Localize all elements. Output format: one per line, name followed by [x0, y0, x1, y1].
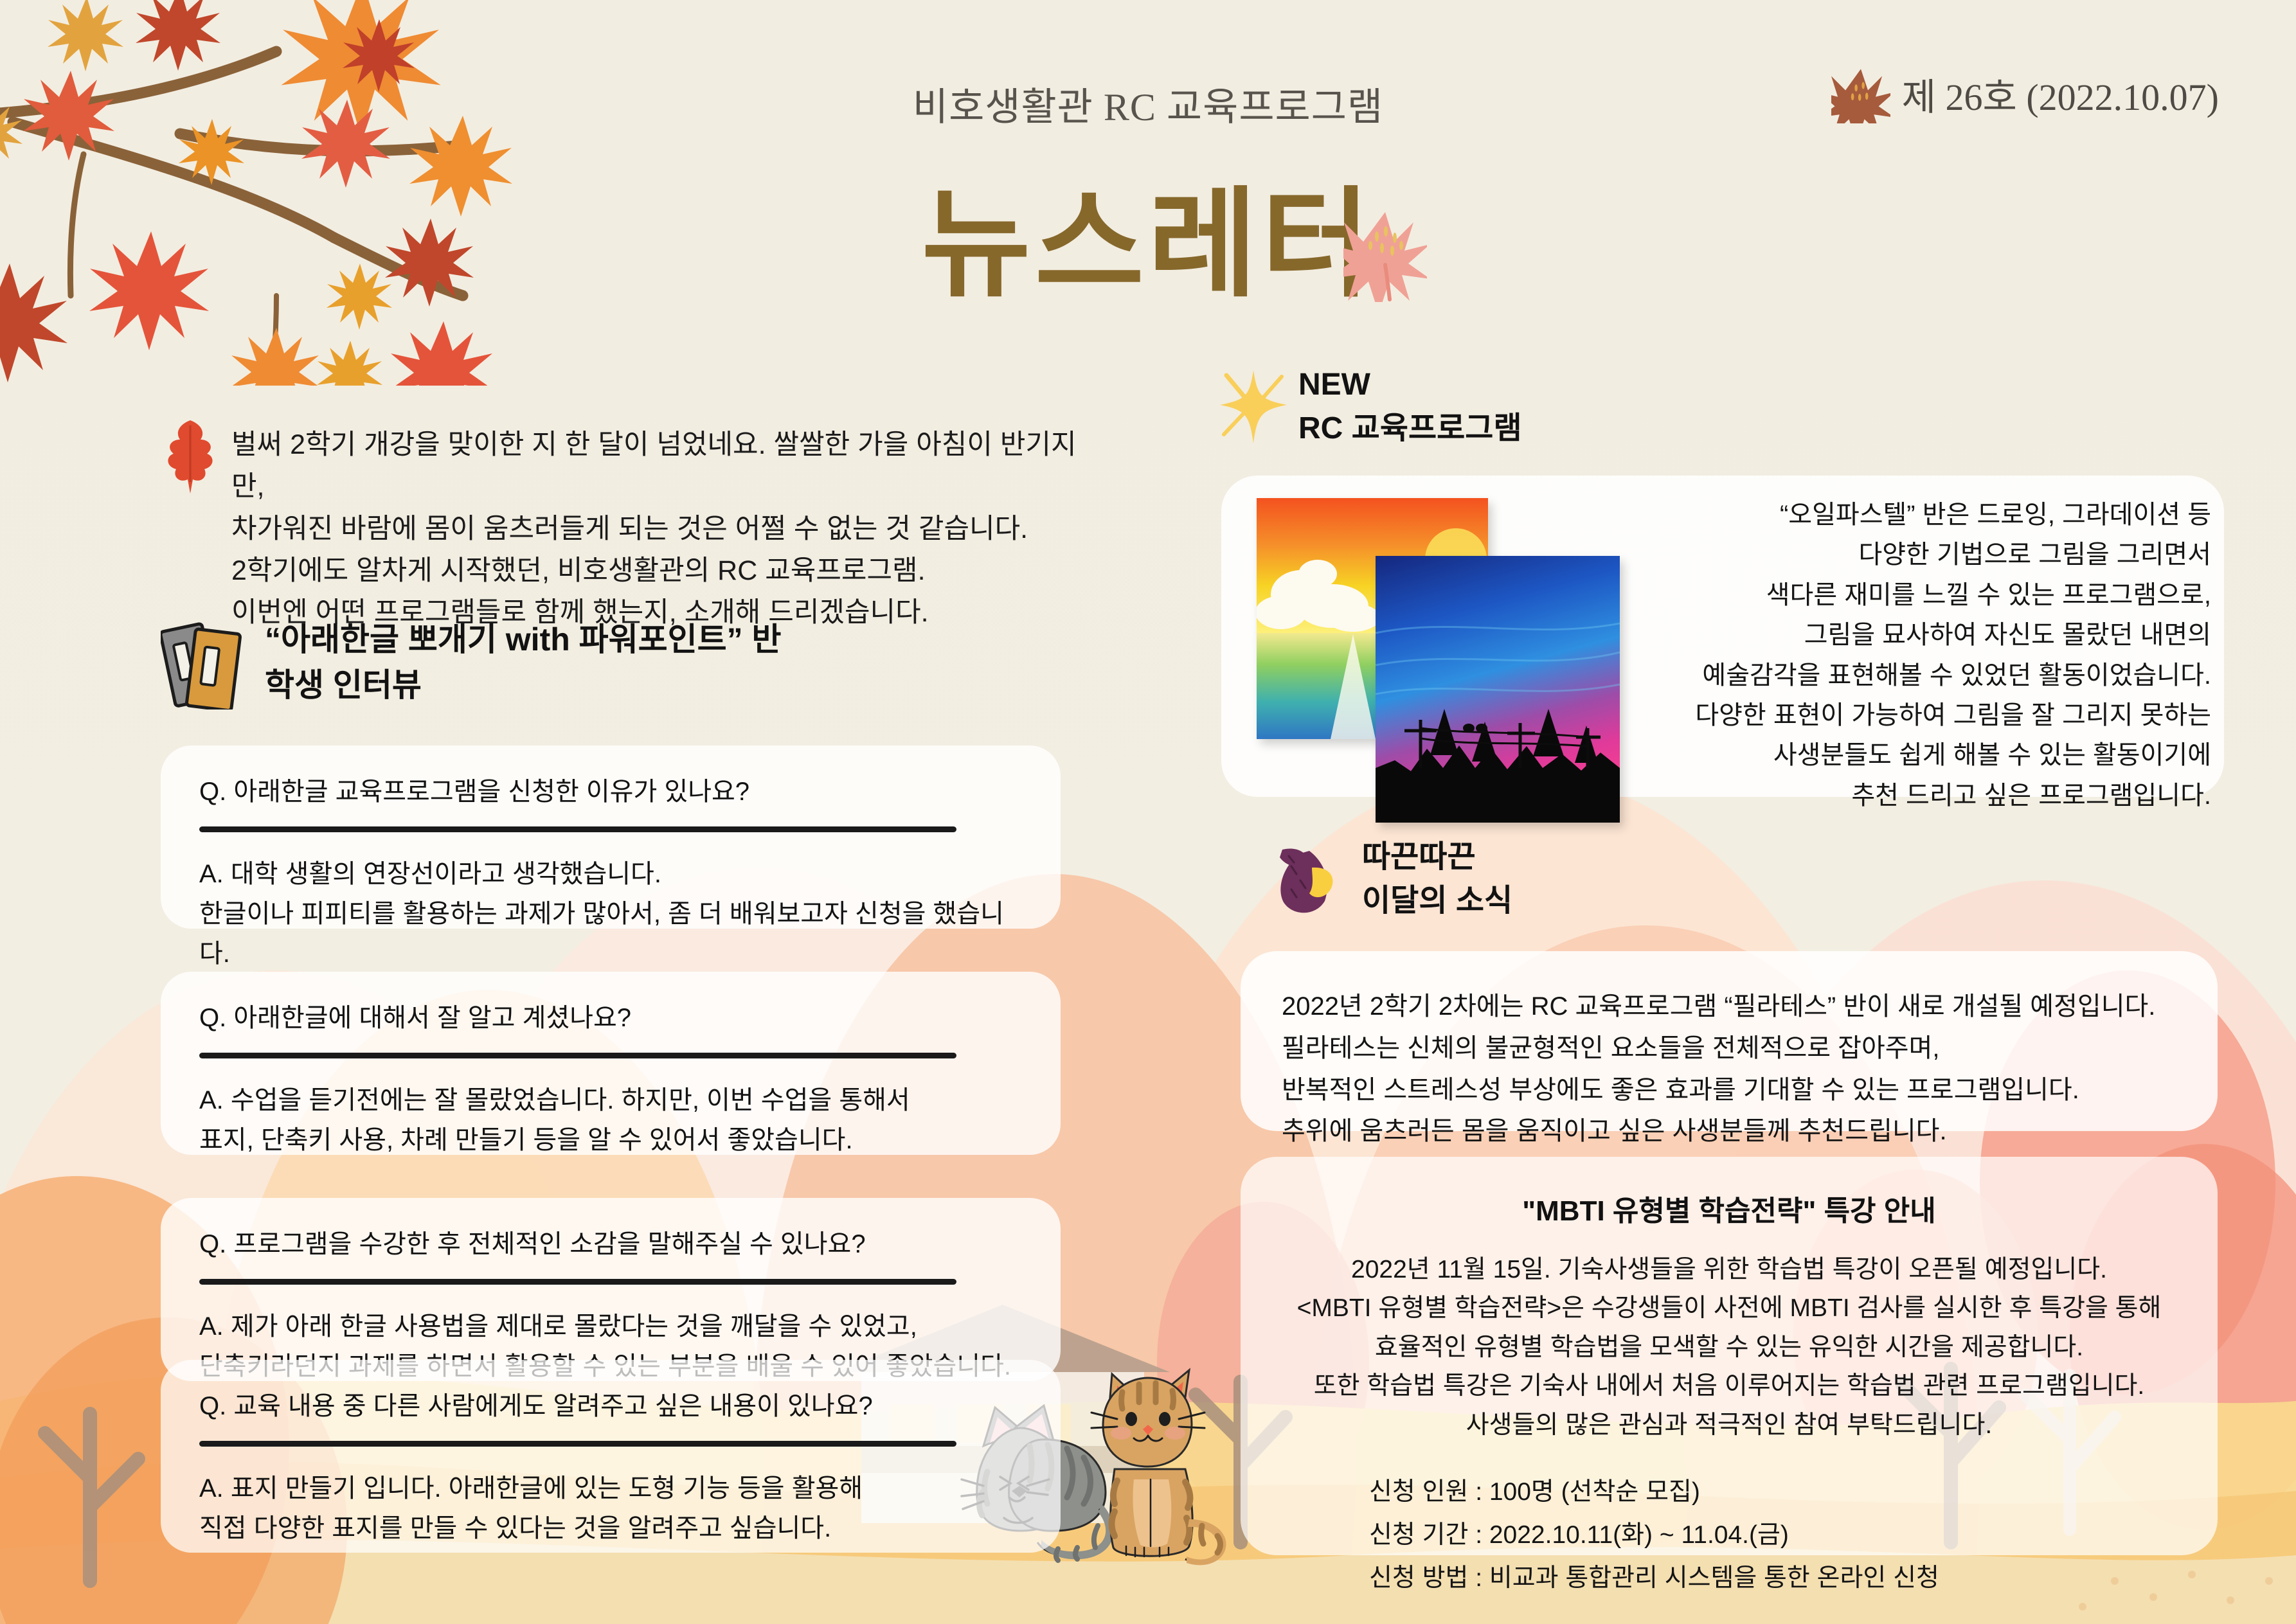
qa-answer: A. 대학 생활의 연장선이라고 생각했습니다. 한글이나 피피티를 활용하는 … — [199, 854, 1022, 974]
intro-paragraph: 벌써 2학기 개강을 맞이한 지 한 달이 넘었네요. 쌀쌀한 가을 아침이 반… — [231, 424, 1106, 634]
new-program-heading-text: NEW RC 교육프로그램 — [1298, 363, 1522, 451]
newsletter-page: 비호생활관 RC 교육프로그램 뉴스레터 제 26호 — [0, 0, 2296, 1624]
qa-divider — [199, 1279, 956, 1285]
books-icon — [161, 613, 251, 709]
monthly-news-heading-text: 따끈따끈 이달의 소식 — [1362, 835, 1512, 923]
mbti-body: 2022년 11월 15일. 기숙사생들을 위한 학습법 특강이 오픈될 예정입… — [1286, 1251, 2173, 1445]
maple-leaf-icon — [1831, 64, 1890, 123]
interview-heading-text: “아래한글 뽀개기 with 파워포인트” 반 학생 인터뷰 — [265, 617, 782, 708]
qa-answer: A. 표지 만들기 입니다. 아래한글에 있는 도형 기능 등을 활용해 직접 … — [199, 1468, 1022, 1548]
interview-heading: “아래한글 뽀개기 with 파워포인트” 반 학생 인터뷰 — [161, 617, 1061, 709]
interview-heading-line2: 학생 인터뷰 — [265, 667, 422, 703]
mbti-card: "MBTI 유형별 학습전략" 특강 안내 2022년 11월 15일. 기숙사… — [1241, 1157, 2218, 1555]
sweet-potato-icon — [1269, 839, 1353, 920]
qa-question: Q. 아래한글에 대해서 잘 알고 계셨나요? — [199, 1000, 1022, 1036]
qa-divider — [199, 1441, 956, 1447]
qa-divider — [199, 826, 956, 832]
oil-pastel-night-sky-artwork — [1376, 556, 1620, 823]
qa-divider — [199, 1053, 956, 1058]
qa-card: Q. 교육 내용 중 다른 사람에게도 알려주고 싶은 내용이 있나요? A. … — [161, 1360, 1061, 1553]
issue-label: 제 26호 (2022.10.07) — [1902, 67, 2219, 121]
qa-answer: A. 수업을 듣기전에는 잘 몰랐었습니다. 하지만, 이번 수업을 통해서 표… — [199, 1080, 1022, 1160]
intro-text: 벌써 2학기 개강을 맞이한 지 한 달이 넘었네요. 쌀쌀한 가을 아침이 반… — [231, 424, 1106, 634]
new-program-label: RC 교육프로그램 — [1298, 411, 1522, 445]
qa-question: Q. 교육 내용 중 다른 사람에게도 알려주고 싶은 내용이 있나요? — [199, 1388, 1022, 1424]
monthly-news-line1: 따끈따끈 — [1362, 840, 1476, 874]
monthly-news-line2: 이달의 소식 — [1362, 884, 1512, 918]
monthly-news-text: 2022년 2학기 2차에는 RC 교육프로그램 “필라테스” 반이 새로 개설… — [1282, 986, 2176, 1152]
new-program-description: “오일파스텔” 반은 드로잉, 그라데이션 등 다양한 기법으로 그림을 그리면… — [1620, 495, 2211, 816]
issue-number: 제 26호 (2022.10.07) — [1831, 64, 2219, 123]
new-badge: NEW — [1298, 368, 1370, 402]
qa-card: Q. 아래한글 교육프로그램을 신청한 이유가 있나요? A. 대학 생활의 연… — [161, 745, 1061, 929]
mbti-title: "MBTI 유형별 학습전략" 특강 안내 — [1286, 1188, 2173, 1229]
page-title: 뉴스레터 — [0, 148, 2296, 320]
qa-card: Q. 아래한글에 대해서 잘 알고 계셨나요? A. 수업을 듣기전에는 잘 몰… — [161, 972, 1061, 1155]
qa-question: Q. 프로그램을 수강한 후 전체적인 소감을 말해주실 수 있나요? — [199, 1226, 1022, 1262]
sparkle-icon — [1215, 365, 1292, 449]
mbti-details: 신청 인원 : 100명 (선착순 모집) 신청 기간 : 2022.10.11… — [1286, 1470, 2173, 1600]
qa-card: Q. 프로그램을 수강한 후 전체적인 소감을 말해주실 수 있나요? A. 제… — [161, 1198, 1061, 1381]
oak-leaf-icon — [161, 418, 220, 495]
page-header: 비호생활관 RC 교육프로그램 뉴스레터 제 26호 — [0, 0, 2296, 334]
maple-leaf-icon — [1343, 206, 1427, 302]
monthly-news-heading: 따끈따끈 이달의 소식 — [1269, 835, 1512, 923]
new-program-heading: NEW RC 교육프로그램 — [1221, 363, 1522, 451]
qa-question: Q. 아래한글 교육프로그램을 신청한 이유가 있나요? — [199, 774, 1022, 810]
monthly-news-card: 2022년 2학기 2차에는 RC 교육프로그램 “필라테스” 반이 새로 개설… — [1241, 951, 2218, 1131]
interview-heading-line1: “아래한글 뽀개기 with 파워포인트” 반 — [265, 621, 782, 657]
